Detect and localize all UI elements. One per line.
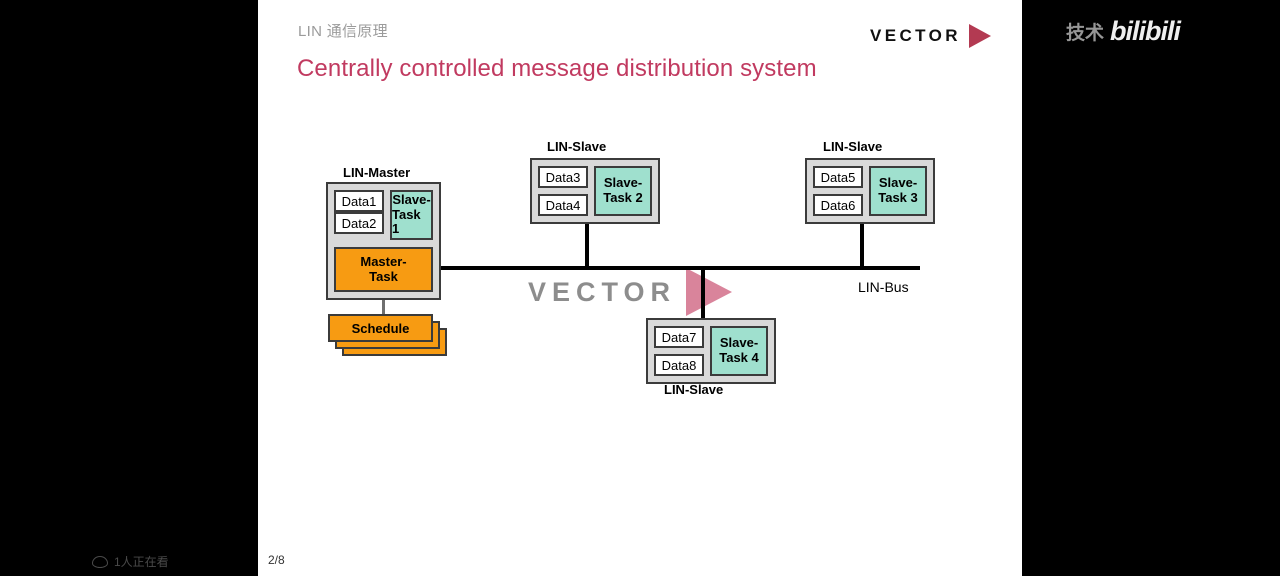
- bilibili-cn-text: 技术: [1066, 18, 1104, 45]
- video-player-frame: LIN 通信原理 Centrally controlled message di…: [0, 0, 1280, 576]
- slave-task-block: Slave- Task 1: [390, 190, 433, 240]
- bilibili-watermark: 技术 bilibili: [1066, 16, 1180, 47]
- schedule-card-front: Schedule: [328, 314, 433, 342]
- slave-task-label-line2: Task 2: [603, 191, 643, 206]
- slave-task-label-line1: Slave-: [720, 336, 758, 351]
- bilibili-logo-text: bilibili: [1110, 16, 1180, 47]
- slave2-caption: LIN-Slave: [547, 139, 606, 154]
- lin-network-diagram: VECTOR LIN-Bus LIN-Master Data1 Data2: [258, 0, 1022, 576]
- slave3-caption: LIN-Slave: [823, 139, 882, 154]
- drop-line-slave3: [860, 218, 864, 268]
- data-box: Data4: [538, 194, 588, 216]
- slave3-data-column: Data5 Data6: [813, 166, 863, 216]
- eye-icon: [92, 556, 108, 568]
- vector-watermark-arrow-icon: [686, 268, 732, 316]
- data-box: Data1: [334, 190, 384, 212]
- data-box: Data8: [654, 354, 704, 376]
- data-box: Data7: [654, 326, 704, 348]
- data-box: Data2: [334, 212, 384, 234]
- lin-slave-node-2[interactable]: Data3 Data4 Slave- Task 2: [530, 158, 660, 224]
- right-letterbox-band: 技术 bilibili: [1022, 0, 1280, 576]
- viewers-watermark: 1人正在看: [92, 553, 169, 570]
- slave-task-block: Slave- Task 2: [594, 166, 652, 216]
- presentation-slide: LIN 通信原理 Centrally controlled message di…: [258, 0, 1022, 576]
- lin-slave-node-4[interactable]: Data7 Data8 Slave- Task 4: [646, 318, 776, 384]
- slave-task-label-line2: Task 3: [878, 191, 918, 206]
- drop-line-slave2: [585, 218, 589, 268]
- viewers-count-label: 1人正在看: [114, 553, 169, 570]
- master-task-label-line2: Task: [369, 270, 398, 285]
- drop-line-slave4: [701, 266, 705, 318]
- slave-task-block: Slave- Task 4: [710, 326, 768, 376]
- page-indicator: 2/8: [268, 553, 285, 567]
- lin-bus-label: LIN-Bus: [858, 279, 909, 295]
- slave-task-label-line1: Slave-: [604, 176, 642, 191]
- master-node-toprow: Data1 Data2 Slave- Task 1: [334, 190, 433, 240]
- data-box: Data3: [538, 166, 588, 188]
- slave-task-label-line2: Task 1: [392, 208, 431, 238]
- lin-slave-node-3[interactable]: Data5 Data6 Slave- Task 3: [805, 158, 935, 224]
- master-data-column: Data1 Data2: [334, 190, 384, 240]
- lin-master-node[interactable]: Data1 Data2 Slave- Task 1 Master- Task: [326, 182, 441, 300]
- slave2-data-column: Data3 Data4: [538, 166, 588, 216]
- slave-task-block: Slave- Task 3: [869, 166, 927, 216]
- lin-bus-line: [441, 266, 920, 270]
- slave-task-label-line2: Task 4: [719, 351, 759, 366]
- slave-task-label-line1: Slave-: [879, 176, 917, 191]
- slave4-data-column: Data7 Data8: [654, 326, 704, 376]
- master-task-block: Master- Task: [334, 247, 433, 292]
- data-box: Data6: [813, 194, 863, 216]
- master-task-label-line1: Master-: [360, 255, 406, 270]
- schedule-stack: Schedule: [328, 314, 450, 356]
- slave4-caption: LIN-Slave: [664, 382, 723, 397]
- slave-task-label-line1: Slave-: [392, 193, 430, 208]
- vector-watermark-text: VECTOR: [528, 277, 676, 308]
- data-box: Data5: [813, 166, 863, 188]
- master-node-caption: LIN-Master: [343, 165, 410, 180]
